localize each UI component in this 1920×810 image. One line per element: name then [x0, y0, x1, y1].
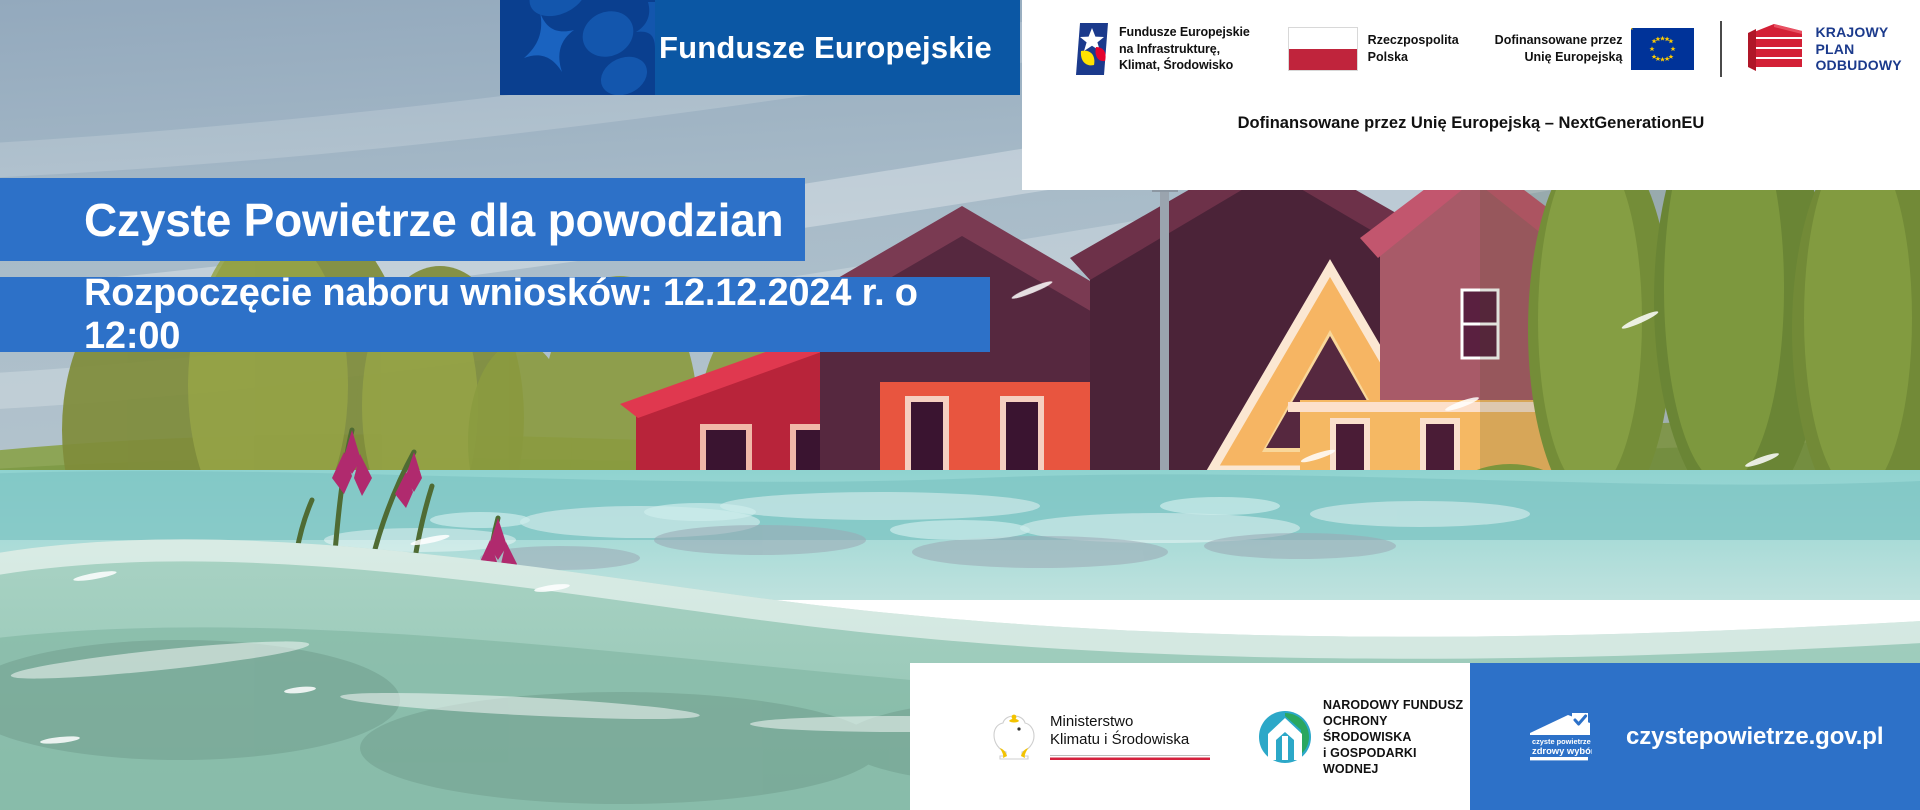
fe-banner-label: Fundusze Europejskie: [500, 0, 1020, 95]
institution-logos-panel: Ministerstwo Klimatu i Środowiska NARODO…: [910, 663, 1470, 810]
czyste-powietrze-logo-icon: czyste powietrze zdrowy wybór: [1528, 711, 1592, 763]
nfosigw-name: NARODOWY FUNDUSZ OCHRONY ŚRODOWISKA i GO…: [1323, 697, 1470, 777]
ministry-logo: Ministerstwo Klimatu i Środowiska: [990, 712, 1210, 762]
nfosigw-logo: NARODOWY FUNDUSZ OCHRONY ŚRODOWISKA i GO…: [1258, 697, 1470, 777]
ministry-text-block: Ministerstwo Klimatu i Środowiska: [1050, 713, 1210, 761]
polish-eagle-icon: [990, 712, 1038, 762]
subheadline-band: Rozpoczęcie naboru wniosków: 12.12.2024 …: [0, 277, 990, 352]
nfosigw-icon: [1258, 710, 1312, 764]
page-title: Czyste Powietrze dla powodzian: [84, 193, 783, 247]
headline-band: Czyste Powietrze dla powodzian: [0, 178, 805, 261]
ministry-rule: [1050, 755, 1210, 760]
page-subtitle: Rozpoczęcie naboru wniosków: 12.12.2024 …: [84, 272, 990, 358]
program-website-panel: czyste powietrze zdrowy wybór czystepowi…: [1470, 663, 1920, 810]
fundusze-europejskie-banner: Fundusze Europejskie: [500, 0, 1020, 95]
eu-funding-panel: Fundusze Europejskie na Infrastrukturę, …: [1022, 0, 1920, 190]
website-url: czystepowietrze.gov.pl: [1626, 723, 1883, 751]
campaign-banner: Fundusze Europejskie Fundusze Europejski…: [0, 0, 1920, 810]
ministry-name: Ministerstwo Klimatu i Środowiska: [1050, 713, 1210, 750]
svg-text:zdrowy wybór: zdrowy wybór: [1532, 745, 1592, 756]
eu-funding-caption: Dofinansowane przez Unię Europejską – Ne…: [1022, 0, 1920, 190]
